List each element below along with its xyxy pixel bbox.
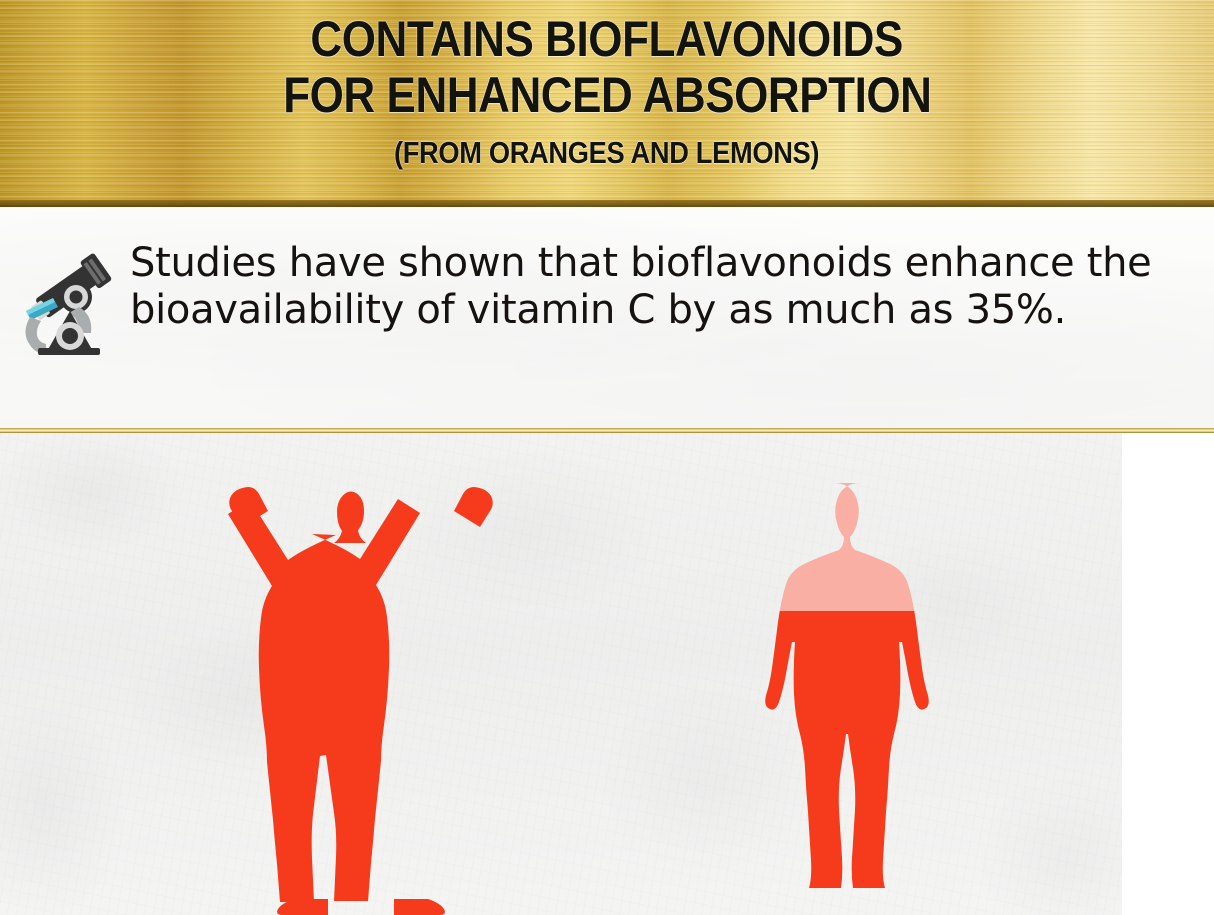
gold-divider-rule — [0, 428, 1214, 433]
microscope-icon — [6, 245, 118, 357]
infographic-root: CONTAINS BIOFLAVONOIDS FOR ENHANCED ABSO… — [0, 0, 1214, 915]
statement-row: Studies have shown that bioflavonoids en… — [0, 207, 1214, 432]
statement-band: Studies have shown that bioflavonoids en… — [0, 207, 1214, 432]
banner-inner: CONTAINS BIOFLAVONOIDS FOR ENHANCED ABSO… — [0, 0, 1214, 207]
figure-without-bioflavonoids — [742, 479, 978, 915]
statement-text: Studies have shown that bioflavonoids en… — [130, 240, 1190, 334]
gold-banner: CONTAINS BIOFLAVONOIDS FOR ENHANCED ABSO… — [0, 0, 1214, 207]
banner-subtitle: (FROM ORANGES AND LEMONS) — [394, 136, 819, 170]
banner-headline-line-2: FOR ENHANCED ABSORPTION — [283, 68, 931, 122]
figure-with-bioflavonoids — [186, 479, 536, 915]
banner-headline-line-1: CONTAINS BIOFLAVONOIDS — [311, 12, 903, 66]
comparison-area: HCL HERBAL CODE LABS HCL HERBAL CODE LAB… — [0, 433, 1214, 915]
